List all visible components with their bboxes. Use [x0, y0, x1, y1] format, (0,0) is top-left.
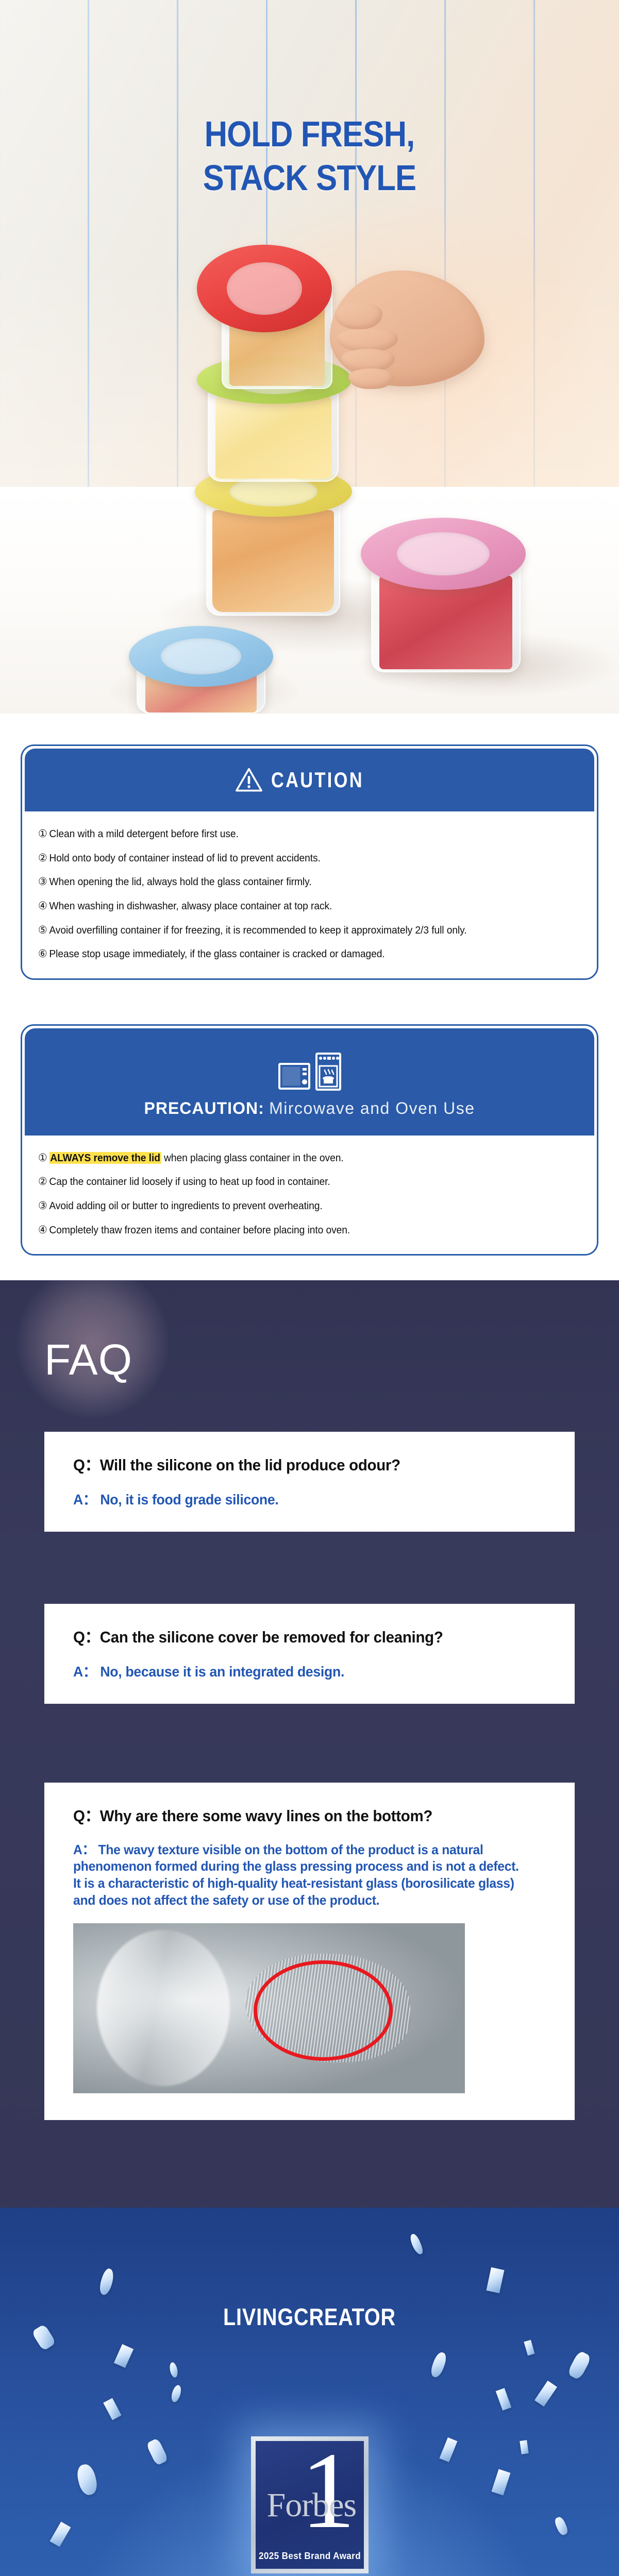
precaution-item: ④Completely thaw frozen items and contai… — [38, 1223, 548, 1238]
caution-item-text: Please stop usage immediately, if the gl… — [49, 948, 384, 960]
precaution-item-number: ④ — [38, 1224, 47, 1236]
precaution-body: ①ALWAYS remove the lid when placing glas… — [25, 1136, 594, 1252]
caution-item-text: When opening the lid, always hold the gl… — [49, 876, 311, 888]
hero-title-line1: HOLD FRESH, — [205, 114, 415, 154]
faq-question: Q：Will the silicone on the lid produce o… — [73, 1455, 522, 1475]
faq-answer: A： No, because it is an integrated desig… — [73, 1663, 522, 1681]
precaution-title-light: Mircowave and Oven Use — [269, 1099, 475, 1117]
hero-section: HOLD FRESH, STACK STYLE — [0, 0, 619, 714]
caution-item: ①Clean with a mild detergent before firs… — [38, 827, 548, 841]
brand-name: LIVINGCREATOR — [43, 2303, 576, 2331]
precaution-item-text: when placing glass container in the oven… — [161, 1152, 344, 1164]
forbes-award-badge: 1 Forbes 2025 Best Brand Award — [251, 2436, 369, 2573]
caution-item: ③When opening the lid, always hold the g… — [38, 875, 548, 889]
appliance-icons — [278, 1053, 341, 1091]
caution-item-number: ⑤ — [38, 924, 47, 936]
thumb — [335, 302, 382, 329]
precaution-box: PRECAUTION: Mircowave and Oven Use ①ALWA… — [21, 1024, 598, 1256]
award-section: LIVINGCREATOR 1 Forbes 2025 Best Brand A… — [0, 2208, 619, 2576]
faq-card: Q：Can the silicone cover be removed for … — [44, 1604, 575, 1704]
caution-item: ⑥Please stop usage immediately, if the g… — [38, 947, 548, 961]
caution-item: ⑤Avoid overfilling container if for free… — [38, 923, 548, 938]
warning-triangle-icon — [235, 767, 263, 793]
precaution-item-text: Cap the container lid loosely if using t… — [49, 1176, 330, 1188]
faq-card: Q：Why are there some wavy lines on the b… — [44, 1783, 575, 2120]
precaution-title-bold: PRECAUTION: — [144, 1099, 264, 1117]
faq-question: Q：Can the silicone cover be removed for … — [73, 1628, 522, 1647]
hero-title-line2: STACK STYLE — [203, 158, 416, 198]
caution-item-text: Hold onto body of container instead of l… — [49, 852, 320, 864]
spacer — [0, 980, 619, 1024]
caution-item: ④When washing in dishwasher, alwasy plac… — [38, 899, 548, 913]
caution-item-number: ⑥ — [38, 948, 47, 960]
spacer — [0, 1256, 619, 1280]
annotation-circle — [254, 1960, 393, 2061]
caution-item-text: When washing in dishwasher, alwasy place… — [49, 900, 332, 912]
caution-item: ②Hold onto body of container instead of … — [38, 851, 548, 866]
precaution-section: PRECAUTION: Mircowave and Oven Use ①ALWA… — [0, 1024, 619, 1256]
lid-red — [197, 245, 332, 332]
caution-section: CAUTION ①Clean with a mild detergent bef… — [0, 744, 619, 980]
precaution-list: ①ALWAYS remove the lid when placing glas… — [38, 1151, 581, 1238]
caution-item-number: ② — [38, 852, 47, 864]
precaution-item-text: Completely thaw frozen items and contain… — [49, 1224, 350, 1236]
caution-box: CAUTION ①Clean with a mild detergent bef… — [21, 744, 598, 980]
finger — [348, 368, 394, 389]
caution-body: ①Clean with a mild detergent before firs… — [25, 811, 594, 976]
caution-item-number: ③ — [38, 876, 47, 888]
badge-subtitle: 2025 Best Brand Award — [258, 2551, 361, 2562]
faq-section: FAQ Q：Will the silicone on the lid produ… — [0, 1280, 619, 2208]
caution-item-number: ④ — [38, 900, 47, 912]
oven-icon — [315, 1053, 341, 1091]
precaution-item-number: ① — [38, 1152, 47, 1164]
caution-title: CAUTION — [271, 768, 364, 792]
badge-inner: 1 Forbes 2025 Best Brand Award — [256, 2441, 364, 2569]
glass-bottom-wavy-texture-photo — [73, 1923, 465, 2093]
microwave-icon — [278, 1061, 310, 1091]
caution-list: ①Clean with a mild detergent before firs… — [38, 827, 581, 961]
precaution-item: ②Cap the container lid loosely if using … — [38, 1175, 548, 1189]
caution-item-number: ① — [38, 828, 47, 840]
glass-highlight — [97, 1930, 230, 2087]
lid-pink — [361, 518, 526, 590]
forbes-wordmark: Forbes — [267, 2488, 357, 2522]
precaution-header: PRECAUTION: Mircowave and Oven Use — [25, 1028, 594, 1136]
product-stack — [0, 0, 619, 714]
precaution-item-highlight: ALWAYS remove the lid — [49, 1152, 161, 1164]
page-title: HOLD FRESH, STACK STYLE — [37, 112, 582, 200]
precaution-item-number: ② — [38, 1176, 47, 1188]
caution-item-text: Clean with a mild detergent before first… — [49, 828, 238, 840]
precaution-item: ①ALWAYS remove the lid when placing glas… — [38, 1151, 548, 1165]
caution-header: CAUTION — [25, 749, 594, 811]
faq-answer: A： No, it is food grade silicone. — [73, 1490, 522, 1509]
precaution-item-number: ③ — [38, 1200, 47, 1212]
faq-answer: A： The wavy texture visible on the botto… — [73, 1841, 522, 1909]
precaution-item-text: Avoid adding oil or butter to ingredient… — [49, 1200, 322, 1212]
spacer — [0, 714, 619, 744]
precaution-item: ③Avoid adding oil or butter to ingredien… — [38, 1199, 548, 1213]
faq-question: Q：Why are there some wavy lines on the b… — [73, 1806, 522, 1825]
faq-card: Q：Will the silicone on the lid produce o… — [44, 1432, 575, 1532]
faq-heading: FAQ — [44, 1338, 132, 1381]
precaution-title: PRECAUTION: Mircowave and Oven Use — [144, 1099, 475, 1118]
lid-blue — [129, 626, 273, 687]
caution-item-text: Avoid overfilling container if for freez… — [49, 924, 466, 936]
